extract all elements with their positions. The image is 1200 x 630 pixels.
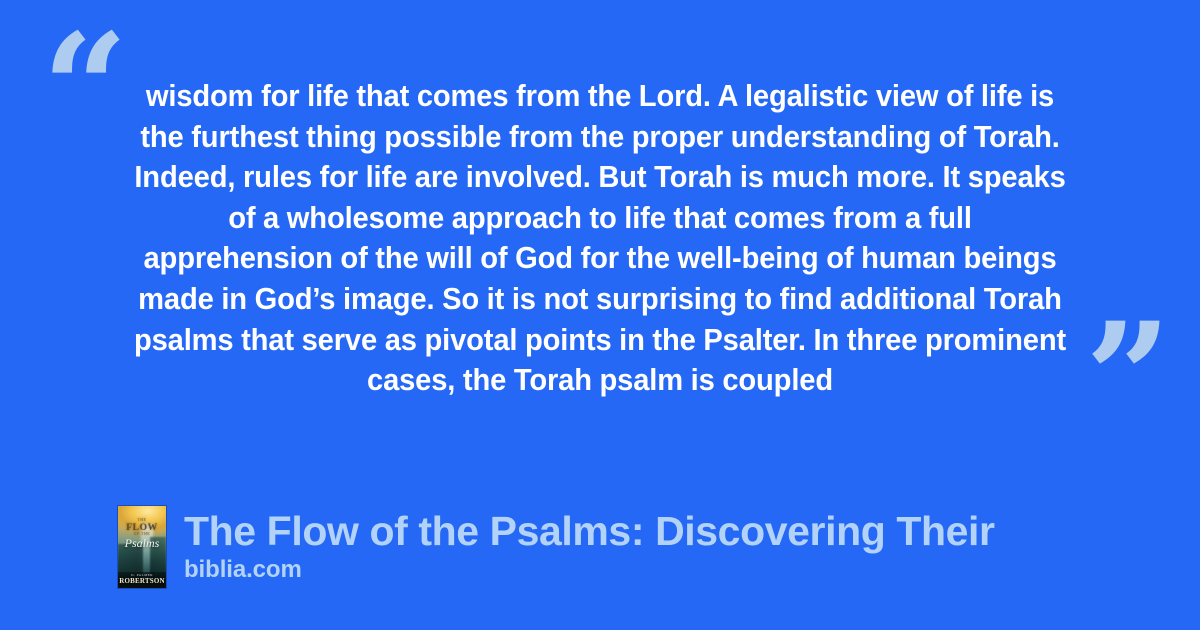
quote-block: wisdom for life that comes from the Lord…: [108, 76, 1092, 401]
closing-quote-icon: ”: [1085, 303, 1169, 453]
attribution-text: The Flow of the Psalms: Discovering Thei…: [184, 506, 995, 584]
book-cover-thumbnail: THE FLOW OF THE Psalms O. PALMER ROBERTS…: [118, 506, 166, 588]
quote-text: wisdom for life that comes from the Lord…: [130, 76, 1070, 401]
site-name: biblia.com: [184, 555, 995, 584]
book-title: The Flow of the Psalms: Discovering Thei…: [184, 508, 995, 555]
quote-card: “ wisdom for life that comes from the Lo…: [0, 0, 1200, 630]
book-cover-line-psalms: Psalms: [118, 537, 166, 549]
book-cover-author-last: ROBERTSON: [118, 578, 166, 585]
attribution-footer: THE FLOW OF THE Psalms O. PALMER ROBERTS…: [118, 506, 995, 588]
